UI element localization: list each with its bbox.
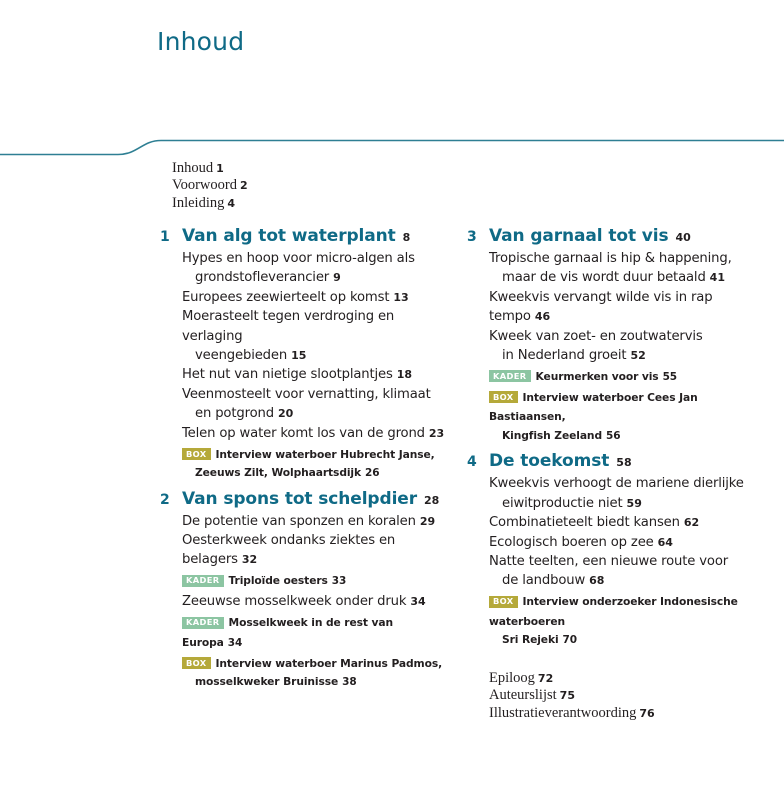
- back-matter-page: 72: [538, 672, 553, 685]
- toc-entry-line2: grondstofleverancier9: [182, 268, 450, 287]
- chapter-1: 1Van alg tot waterplant8Hypes en hoop vo…: [160, 226, 450, 483]
- toc-entry[interactable]: Ecologisch boeren op zee64: [489, 533, 777, 552]
- toc-entry[interactable]: Zeeuwse mosselkweek onder druk34: [182, 592, 450, 611]
- toc-entry-line2: Kingfish Zeeland56: [489, 427, 777, 446]
- toc-entry-line2: mosselkweker Bruinisse38: [182, 673, 450, 692]
- toc-entry-line1: Combinatieteelt biedt kansen: [489, 515, 680, 530]
- toc-entry-line2: de landbouw68: [489, 571, 777, 590]
- back-matter-item[interactable]: Illustratieverantwoording76: [489, 705, 777, 723]
- toc-entry-line2: Sri Rejeki70: [489, 631, 777, 650]
- chapter-heading[interactable]: 1Van alg tot waterplant8: [160, 226, 450, 246]
- chapter-page: 28: [424, 494, 439, 507]
- toc-entry-line1: Moerasteelt tegen verdroging en verlagin…: [182, 309, 394, 343]
- box-badge: BOX: [182, 448, 211, 460]
- back-matter-label: Auteurslijst: [489, 687, 557, 703]
- toc-badge-entry[interactable]: BOXInterview waterboer Hubrecht Janse,Ze…: [182, 445, 450, 483]
- toc-entry-line1: Interview waterboer Hubrecht Janse,: [216, 448, 435, 461]
- chapter-heading[interactable]: 3Van garnaal tot vis40: [467, 226, 777, 246]
- toc-entry-line1: Kweek van zoet- en zoutwatervis: [489, 329, 703, 344]
- toc-badge-text: Interview waterboer Cees Jan Bastiaansen…: [489, 391, 777, 446]
- toc-entry-line1: Interview waterboer Cees Jan Bastiaansen…: [489, 391, 698, 424]
- front-matter-list: Inhoud1Voorwoord2Inleiding4: [172, 160, 248, 212]
- page-title: Inhoud: [157, 27, 244, 56]
- toc-entry-page: 34: [228, 637, 242, 649]
- toc-entry[interactable]: Het nut van nietige slootplantjes18: [182, 365, 450, 384]
- toc-entry-page: 68: [589, 574, 604, 587]
- chapter-2: 2Van spons tot schelpdier28De potentie v…: [160, 489, 450, 692]
- toc-entry-page: 55: [663, 371, 677, 383]
- toc-entry-line1: Europees zeewierteelt op komst: [182, 290, 389, 305]
- toc-entry[interactable]: Tropische garnaal is hip & happening,maa…: [489, 249, 777, 288]
- chapter-title: Van spons tot schelpdier: [182, 489, 417, 509]
- toc-entry[interactable]: Oesterkweek ondanks ziektes en belagers3…: [182, 531, 450, 570]
- toc-badge-text: Interview waterboer Hubrecht Janse,Zeeuw…: [182, 448, 450, 483]
- chapter-4: 4De toekomst58Kweekvis verhoogt de marie…: [467, 451, 777, 649]
- decorative-rule: [0, 130, 784, 164]
- chapter-heading[interactable]: 2Van spons tot schelpdier28: [160, 489, 450, 509]
- back-matter-item[interactable]: Auteurslijst75: [489, 687, 777, 705]
- toc-badge-entry[interactable]: BOXInterview onderzoeker Indonesische wa…: [489, 592, 777, 650]
- toc-entry-page: 29: [420, 515, 435, 528]
- toc-entry[interactable]: Veenmosteelt voor vernatting, klimaaten …: [182, 385, 450, 424]
- kader-badge: KADER: [489, 370, 531, 382]
- toc-entry-line2: in Nederland groeit52: [489, 346, 777, 365]
- chapter-title: Van garnaal tot vis: [489, 226, 669, 246]
- toc-entry-line1: Hypes en hoop voor micro-algen als: [182, 251, 415, 266]
- box-badge: BOX: [489, 596, 518, 608]
- toc-badge-text: Keurmerken voor vis55: [536, 370, 677, 383]
- chapter-title: Van alg tot waterplant: [182, 226, 396, 246]
- chapter-number: 1: [160, 229, 182, 245]
- toc-entry-line1: Triploïde oesters: [229, 574, 328, 587]
- toc-badge-entry[interactable]: BOXInterview waterboer Marinus Padmos,mo…: [182, 654, 450, 692]
- back-matter-item[interactable]: Epiloog72: [489, 670, 777, 688]
- chapter-page: 58: [616, 456, 631, 469]
- toc-entry-page: 56: [606, 430, 620, 442]
- toc-entry-page: 70: [563, 634, 577, 646]
- toc-badge-entry[interactable]: KADERKeurmerken voor vis55: [489, 367, 777, 387]
- chapter-entries: De potentie van sponzen en koralen29Oest…: [160, 512, 450, 692]
- toc-entry-page: 62: [684, 516, 699, 529]
- chapter-page: 40: [676, 231, 691, 244]
- toc-entry-page: 18: [397, 368, 412, 381]
- front-matter-item[interactable]: Voorwoord2: [172, 177, 248, 194]
- toc-entry-line1: Oesterkweek ondanks ziektes en belagers: [182, 533, 395, 567]
- toc-entry-page: 20: [278, 407, 293, 420]
- toc-entry-line1: Tropische garnaal is hip & happening,: [489, 251, 732, 266]
- toc-entry-page: 38: [342, 676, 356, 688]
- chapter-number: 4: [467, 454, 489, 470]
- chapter-entries: Hypes en hoop voor micro-algen alsgronds…: [160, 249, 450, 483]
- toc-entry-page: 59: [627, 497, 642, 510]
- toc-entry-page: 32: [242, 553, 257, 566]
- toc-entry[interactable]: Kweekvis vervangt wilde vis in rap tempo…: [489, 288, 777, 327]
- toc-entry[interactable]: Kweekvis verhoogt de mariene dierlijkeei…: [489, 474, 777, 513]
- back-matter-page: 76: [639, 707, 654, 720]
- front-matter-item[interactable]: Inhoud1: [172, 160, 248, 177]
- back-matter-label: Illustratieverantwoording: [489, 705, 636, 721]
- toc-entry-line2: en potgrond20: [182, 404, 450, 423]
- chapter-number: 3: [467, 229, 489, 245]
- toc-badge-entry[interactable]: BOXInterview waterboer Cees Jan Bastiaan…: [489, 388, 777, 446]
- toc-entry[interactable]: De potentie van sponzen en koralen29: [182, 512, 450, 531]
- toc-entry-page: 52: [630, 349, 645, 362]
- toc-entry-line1: Interview onderzoeker Indonesische water…: [489, 595, 738, 628]
- toc-entry[interactable]: Moerasteelt tegen verdroging en verlagin…: [182, 307, 450, 365]
- chapter-3: 3Van garnaal tot vis40Tropische garnaal …: [467, 226, 777, 445]
- front-matter-label: Voorwoord: [172, 177, 237, 193]
- toc-entry-line2: eiwitproductie niet59: [489, 494, 777, 513]
- toc-entry-line2: maar de vis wordt duur betaald41: [489, 268, 777, 287]
- kader-badge: KADER: [182, 617, 224, 629]
- front-matter-page: 2: [240, 179, 248, 192]
- front-matter-item[interactable]: Inleiding4: [172, 195, 248, 212]
- toc-entry-page: 41: [710, 271, 725, 284]
- toc-entry-page: 34: [410, 595, 425, 608]
- toc-entry[interactable]: Hypes en hoop voor micro-algen alsgronds…: [182, 249, 450, 288]
- toc-entry-line2: veengebieden15: [182, 346, 450, 365]
- toc-entry[interactable]: Natte teelten, een nieuwe route voorde l…: [489, 552, 777, 591]
- toc-entry-line1: Zeeuwse mosselkweek onder druk: [182, 594, 406, 609]
- front-matter-label: Inhoud: [172, 160, 213, 176]
- toc-badge-entry[interactable]: KADERMosselkweek in de rest van Europa34: [182, 613, 450, 652]
- toc-entry-page: 46: [535, 310, 550, 323]
- toc-entry[interactable]: Combinatieteelt biedt kansen62: [489, 513, 777, 532]
- box-badge: BOX: [489, 391, 518, 403]
- toc-entry-page: 26: [365, 467, 379, 479]
- toc-entry[interactable]: Europees zeewierteelt op komst13: [182, 288, 450, 307]
- chapter-title: De toekomst: [489, 451, 609, 471]
- toc-entry-line1: Ecologisch boeren op zee: [489, 535, 654, 550]
- toc-badge-entry[interactable]: KADERTriploïde oesters33: [182, 571, 450, 591]
- toc-entry-line1: Kweekvis verhoogt de mariene dierlijke: [489, 476, 744, 491]
- kader-badge: KADER: [182, 575, 224, 587]
- toc-badge-text: Triploïde oesters33: [229, 574, 347, 587]
- toc-entry-page: 64: [658, 536, 673, 549]
- toc-entry-line1: Telen op water komt los van de grond: [182, 426, 425, 441]
- chapter-number: 2: [160, 492, 182, 508]
- chapter-page: 8: [403, 231, 411, 244]
- toc-column-right: 3Van garnaal tot vis40Tropische garnaal …: [467, 226, 777, 723]
- toc-badge-text: Interview onderzoeker Indonesische water…: [489, 595, 777, 650]
- toc-entry-page: 15: [291, 349, 306, 362]
- toc-badge-text: Interview waterboer Marinus Padmos,mosse…: [182, 657, 450, 692]
- toc-entry-line2: Zeeuws Zilt, Wolphaartsdijk26: [182, 464, 450, 483]
- toc-entry-line1: De potentie van sponzen en koralen: [182, 514, 416, 529]
- toc-entry-line1: Het nut van nietige slootplantjes: [182, 367, 393, 382]
- toc-entry-line1: Kweekvis vervangt wilde vis in rap tempo: [489, 290, 712, 324]
- back-matter-list: Epiloog72Auteurslijst75Illustratieverant…: [467, 670, 777, 723]
- toc-entry[interactable]: Telen op water komt los van de grond23: [182, 424, 450, 443]
- toc-entry-page: 13: [393, 291, 408, 304]
- chapter-heading[interactable]: 4De toekomst58: [467, 451, 777, 471]
- toc-entry-page: 9: [333, 271, 341, 284]
- front-matter-page: 1: [216, 162, 224, 175]
- box-badge: BOX: [182, 657, 211, 669]
- toc-entry-line1: Natte teelten, een nieuwe route voor: [489, 554, 728, 569]
- back-matter-label: Epiloog: [489, 670, 535, 686]
- toc-entry-page: 23: [429, 427, 444, 440]
- back-matter-page: 75: [560, 689, 575, 702]
- toc-column-left: 1Van alg tot waterplant8Hypes en hoop vo…: [160, 226, 450, 698]
- toc-entry-line1: Interview waterboer Marinus Padmos,: [216, 657, 443, 670]
- toc-entry[interactable]: Kweek van zoet- en zoutwatervisin Nederl…: [489, 327, 777, 366]
- front-matter-label: Inleiding: [172, 195, 224, 211]
- chapter-entries: Tropische garnaal is hip & happening,maa…: [467, 249, 777, 445]
- chapter-entries: Kweekvis verhoogt de mariene dierlijkeei…: [467, 474, 777, 649]
- toc-entry-page: 33: [332, 575, 346, 587]
- toc-entry-line1: Veenmosteelt voor vernatting, klimaat: [182, 387, 431, 402]
- toc-entry-line1: Keurmerken voor vis: [536, 370, 659, 383]
- front-matter-page: 4: [227, 197, 235, 210]
